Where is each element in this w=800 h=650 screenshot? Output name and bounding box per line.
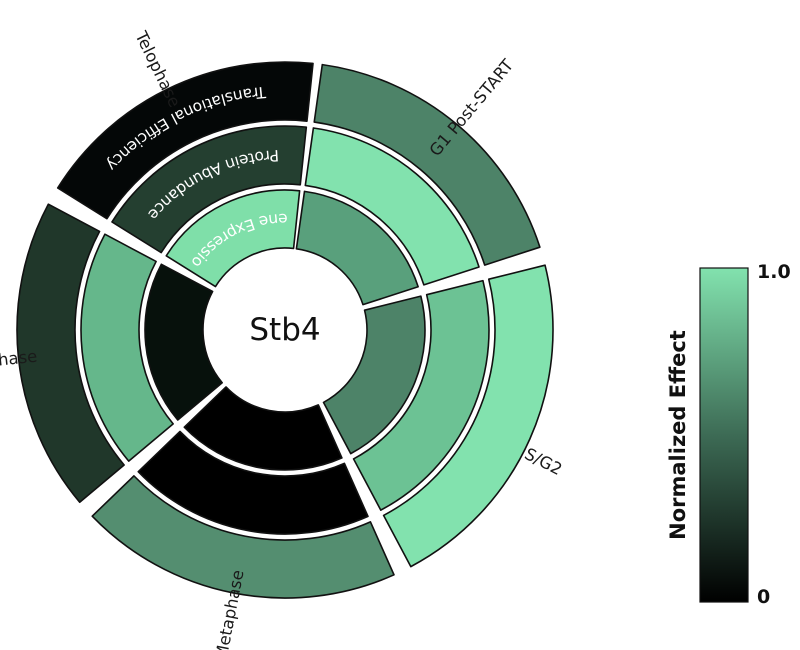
sunburst-wedge[interactable]	[145, 264, 222, 420]
colorbar-title: Normalized Effect	[666, 330, 690, 540]
sunburst-chart: Gene ExpressionProtein AbundanceTranslat…	[0, 0, 800, 650]
colorbar-gradient	[700, 268, 748, 602]
phase-label-s-g2: S/G2	[522, 444, 566, 479]
colorbar-max-tick: 1.0	[757, 261, 791, 283]
sunburst-chart-page: Gene ExpressionProtein AbundanceTranslat…	[0, 0, 800, 650]
center-gene-label: Stb4	[249, 312, 320, 348]
colorbar-min-tick: 0	[757, 586, 770, 608]
